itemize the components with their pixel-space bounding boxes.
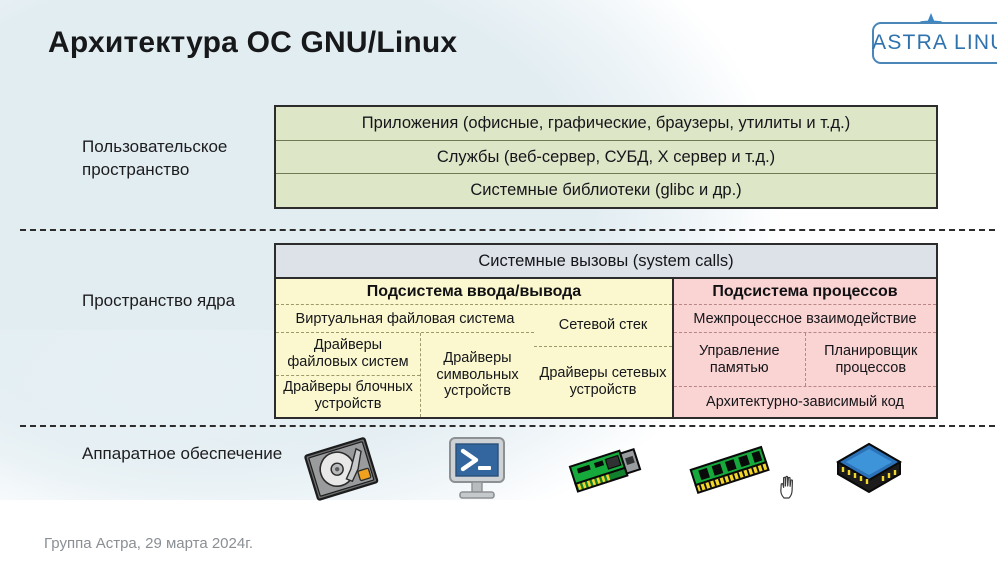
divider-user-kernel (20, 229, 995, 231)
astra-linux-logo: ASTRA LINUX (872, 22, 997, 64)
kernel-subsystems: Подсистема ввода/вывода Виртуальная файл… (276, 279, 936, 417)
kernel-space-stack: Системные вызовы (system calls) Подсисте… (274, 243, 938, 419)
user-space-row-applications: Приложения (офисные, графические, браузе… (276, 107, 936, 141)
io-subsystem: Подсистема ввода/вывода Виртуальная файл… (276, 279, 674, 417)
section-label-hardware: Аппаратное обеспечение (82, 443, 292, 466)
hand-cursor (778, 474, 798, 500)
section-label-kernel-space: Пространство ядра (82, 290, 292, 313)
monitor-terminal-icon (434, 432, 520, 504)
io-char-column: Драйверы символьных устройств (421, 333, 534, 417)
io-cell-net-drivers: Драйверы сетевых устройств (534, 347, 672, 417)
io-cell-vfs: Виртуальная файловая система (276, 305, 534, 333)
io-cell-block-drivers: Драйверы блочных устройств (276, 376, 420, 418)
divider-kernel-hardware (20, 425, 995, 427)
io-lower-row: Драйверы файловых систем Драйверы блочны… (276, 333, 534, 417)
process-subsystem-title: Подсистема процессов (674, 279, 936, 305)
user-space-stack: Приложения (офисные, графические, браузе… (274, 105, 938, 209)
network-card-icon (562, 432, 648, 504)
process-cell-arch-code: Архитектурно-зависимый код (674, 387, 936, 417)
process-middle-row: Управление памятью Планировщик процессов (674, 333, 936, 387)
footer-text: Группа Астра, 29 марта 2024г. (44, 535, 253, 552)
process-cell-memory-management: Управление памятью (674, 333, 806, 386)
section-label-user-space: Пользовательское пространство (82, 136, 292, 182)
user-space-row-system-libraries: Системные библиотеки (glibc и др.) (276, 174, 936, 207)
io-cell-net-stack: Сетевой стек (534, 305, 672, 347)
cpu-chip-icon (826, 432, 912, 504)
kernel-syscalls-row: Системные вызовы (system calls) (276, 245, 936, 279)
io-subsystem-grid: Виртуальная файловая система Драйверы фа… (276, 305, 672, 417)
io-left-column: Виртуальная файловая система Драйверы фа… (276, 305, 534, 417)
process-cell-scheduler: Планировщик процессов (806, 333, 937, 386)
user-space-row-services: Службы (веб-сервер, СУБД, X сервер и т.д… (276, 141, 936, 175)
hardware-icon-row (274, 432, 938, 504)
slide-canvas: Архитектура ОС GNU/Linux ASTRA LINUX Пол… (0, 0, 997, 576)
page-title: Архитектура ОС GNU/Linux (48, 26, 457, 60)
hard-disk-icon (298, 432, 384, 504)
process-subsystem: Подсистема процессов Межпроцессное взаим… (674, 279, 936, 417)
process-cell-ipc: Межпроцессное взаимодействие (674, 305, 936, 333)
io-cell-fs-drivers: Драйверы файловых систем (276, 333, 420, 376)
io-fs-column: Драйверы файловых систем Драйверы блочны… (276, 333, 421, 417)
astra-linux-logo-text: ASTRA LINUX (872, 31, 997, 55)
io-subsystem-title: Подсистема ввода/вывода (276, 279, 672, 305)
io-cell-char-drivers: Драйверы символьных устройств (421, 350, 534, 400)
ram-module-icon (686, 432, 772, 504)
io-network-column: Сетевой стек Драйверы сетевых устройств (534, 305, 672, 417)
